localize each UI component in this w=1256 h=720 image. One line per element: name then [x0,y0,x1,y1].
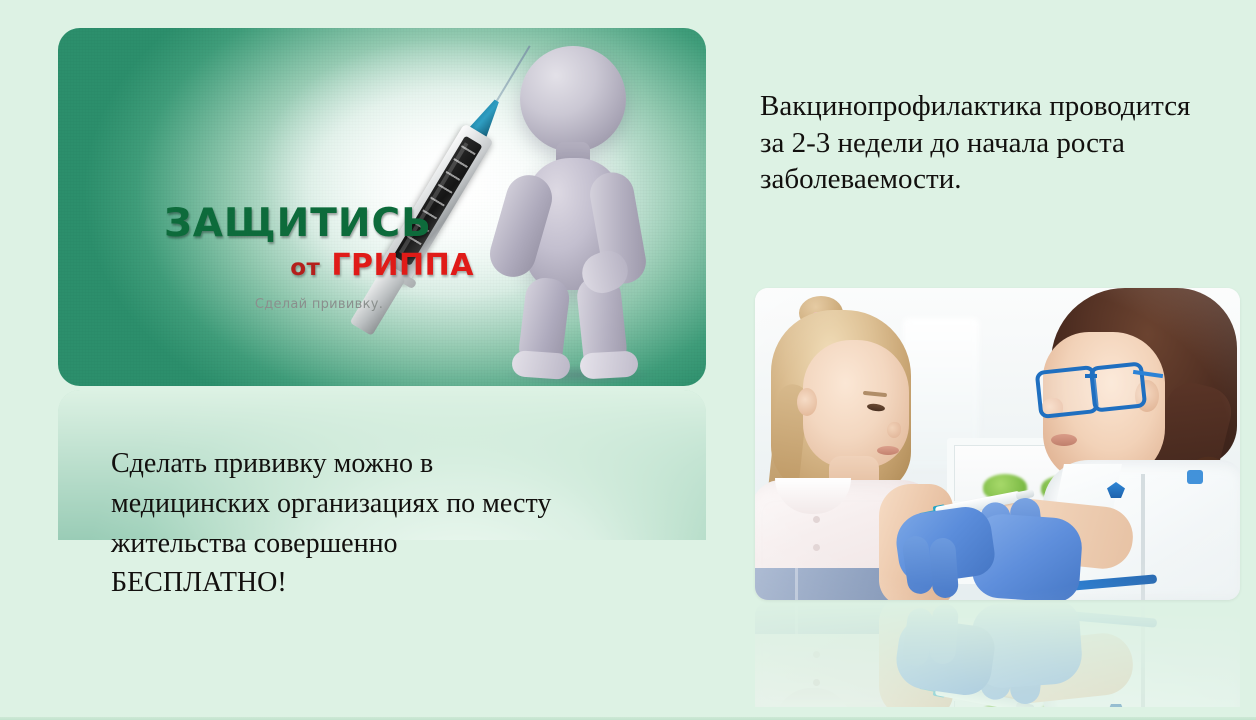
text-line: Сделать прививку можно в [111,444,671,484]
flu-protection-poster: ЗАЩИТИСЬ от ГРИППА Сделай прививку. [58,28,706,386]
presentation-slide: ЗАЩИТИСЬ от ГРИППА Сделай прививку. [0,0,1256,720]
poster-headline-preposition: от [290,255,320,281]
3d-human-figure [476,46,676,376]
poster-headline-secondary: от ГРИППА [164,251,474,281]
photo-reflection [755,602,1240,707]
poster-headline-primary: ЗАЩИТИСЬ [164,204,474,243]
poster-subtitle: Сделай прививку. [164,297,474,312]
poster-headline-flu: ГРИППА [331,248,474,283]
free-vaccination-text: Сделать прививку можно в медицинских орг… [111,444,671,603]
nurse-vaccinating-child-photo [755,288,1240,600]
text-line: БЕСПЛАТНО! [111,563,671,603]
text-line: медицинских организациях по месту [111,484,671,524]
poster-canvas: ЗАЩИТИСЬ от ГРИППА Сделай прививку. [58,28,706,386]
text-line: жительства совершенно [111,524,671,564]
poster-text-group: ЗАЩИТИСЬ от ГРИППА Сделай прививку. [164,204,474,312]
photo-canvas [755,288,1240,600]
vaccination-timing-text: Вакцинопрофилактика проводится за 2-3 не… [760,88,1200,198]
photo-vignette [755,288,1240,600]
